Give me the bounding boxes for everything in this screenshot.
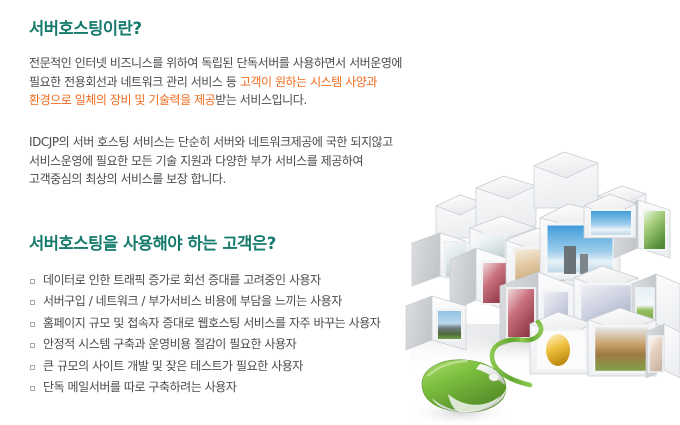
intro-paragraph-2: IDCJP의 서버 호스팅 서비스는 단순히 서버와 네트워크제공에 국한 되지… <box>29 133 449 189</box>
square-bullet-icon <box>30 386 35 391</box>
content-column: 서버호스팅이란? 전문적인 인터넷 비즈니스를 위하여 독립된 단독서버를 사용… <box>29 0 449 399</box>
intro-paragraph-1: 전문적인 인터넷 비즈니스를 위하여 독립된 단독서버를 사용하면서 서버운영에… <box>29 54 449 110</box>
list-item-label: 안정적 시스템 구축과 운영비용 절감이 필요한 사용자 <box>43 337 296 351</box>
square-bullet-icon <box>30 279 35 284</box>
paragraph-line: IDCJP의 서버 호스팅 서비스는 단순히 서버와 네트워크제공에 국한 되지… <box>29 135 393 149</box>
list-item: 데이터로 인한 트래픽 증가로 회선 증대를 고려중인 사용자 <box>29 270 449 292</box>
square-bullet-icon <box>30 300 35 305</box>
list-item-label: 단독 메일서버를 따로 구축하려는 사용자 <box>43 380 237 394</box>
paragraph-line: 필요한 전용회선과 네트워크 관리 서비스 등 <box>29 75 240 89</box>
paragraph-line: 서비스운영에 필요한 모든 기술 지원과 다양한 부가 서비스를 제공하여 <box>29 154 363 168</box>
list-item-label: 홈페이지 규모 및 접속자 증대로 웹호스팅 서비스를 자주 바꾸는 사용자 <box>43 316 380 330</box>
page-root: 서버호스팅이란? 전문적인 인터넷 비즈니스를 위하여 독립된 단독서버를 사용… <box>0 0 680 425</box>
section-heading-intro: 서버호스팅이란? <box>29 20 449 38</box>
list-item-label: 데이터로 인한 트래픽 증가로 회선 증대를 고려중인 사용자 <box>43 273 321 287</box>
square-bullet-icon <box>30 343 35 348</box>
paragraph-line: 전문적인 인터넷 비즈니스를 위하여 독립된 단독서버를 사용하면서 서버운영에 <box>29 56 402 70</box>
square-bullet-icon <box>30 365 35 370</box>
list-item: 안정적 시스템 구축과 운영비용 절감이 필요한 사용자 <box>29 334 449 356</box>
list-item-label: 큰 규모의 사이트 개발 및 잦은 테스트가 필요한 사용자 <box>43 359 303 373</box>
list-item: 큰 규모의 사이트 개발 및 잦은 테스트가 필요한 사용자 <box>29 356 449 378</box>
target-customers-list: 데이터로 인한 트래픽 증가로 회선 증대를 고려중인 사용자 서버구입 / 네… <box>29 270 449 399</box>
list-item: 단독 메일서버를 따로 구축하려는 사용자 <box>29 377 449 399</box>
paragraph-line: 고객중심의 최상의 서비스를 보장 합니다. <box>29 172 226 186</box>
list-item: 홈페이지 규모 및 접속자 증대로 웹호스팅 서비스를 자주 바꾸는 사용자 <box>29 313 449 335</box>
list-item-label: 서버구입 / 네트워크 / 부가서비스 비용에 부담을 느끼는 사용자 <box>43 294 342 308</box>
highlighted-text: 고객이 원하는 시스템 사양과 <box>240 75 377 89</box>
list-item: 서버구입 / 네트워크 / 부가서비스 비용에 부담을 느끼는 사용자 <box>29 291 449 313</box>
highlighted-text: 환경으로 일체의 장비 및 기술력을 제공 <box>29 93 215 107</box>
paragraph-line: 받는 서비스입니다. <box>215 93 306 107</box>
square-bullet-icon <box>30 322 35 327</box>
section-heading-target-customers: 서버호스팅을 사용해야 하는 고객은? <box>29 235 449 253</box>
